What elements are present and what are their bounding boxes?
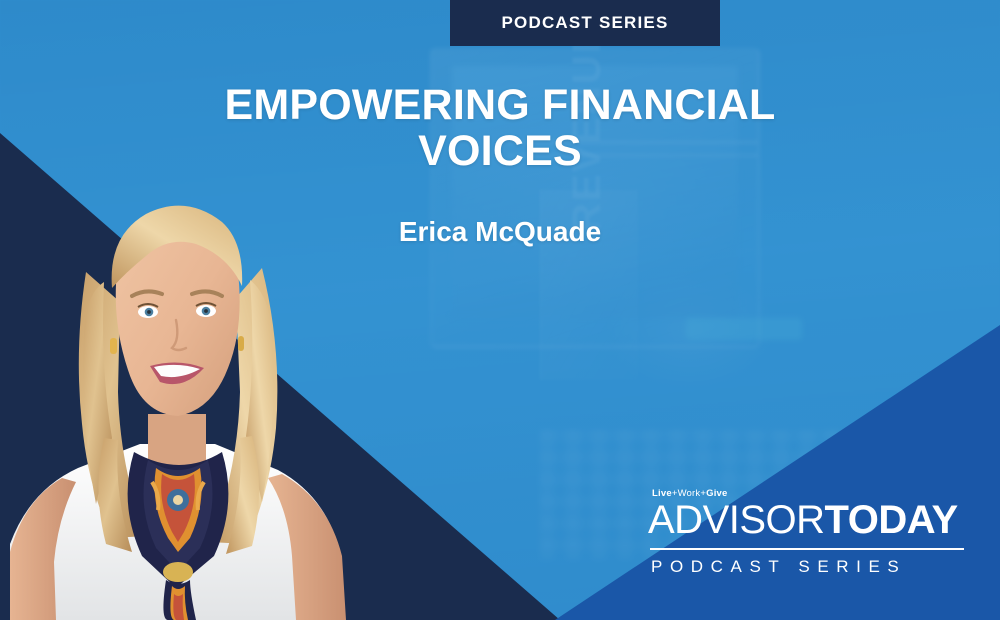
banner-label: PODCAST SERIES bbox=[502, 13, 669, 33]
logo-advisor-text: ADVISOR bbox=[648, 498, 825, 542]
logo-wordmark: ADVISORTODAY bbox=[648, 500, 966, 540]
logo-subtitle: PODCAST SERIES bbox=[648, 557, 966, 577]
speaker-name: Erica McQuade bbox=[250, 216, 750, 248]
logo-divider bbox=[650, 548, 964, 550]
logo-today-text: TODAY bbox=[825, 498, 958, 542]
advisor-today-logo: Live+Work+Give ADVISORTODAY PODCAST SERI… bbox=[648, 488, 966, 577]
page-title: EMPOWERING FINANCIAL VOICES bbox=[200, 82, 800, 175]
podcast-series-banner: PODCAST SERIES bbox=[450, 0, 720, 46]
podcast-episode-graphic: REVENUE bbox=[0, 0, 1000, 620]
